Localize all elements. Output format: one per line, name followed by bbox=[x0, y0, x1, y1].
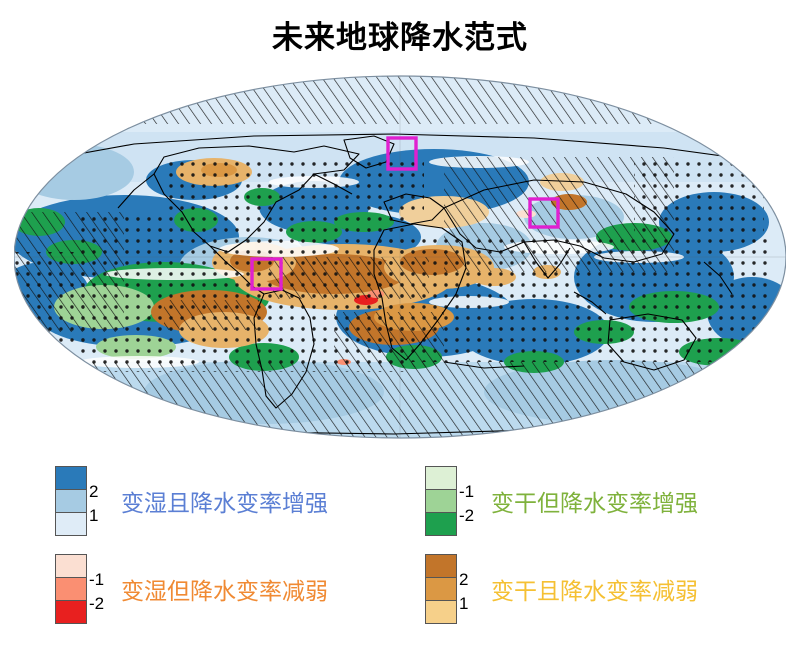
legend-swatch-brown-3 bbox=[426, 555, 456, 578]
legend-group-wetter-more-variable[interactable]: 2 1 变湿且降水变率增强 bbox=[55, 466, 328, 536]
legend-tick-blue-lower: 1 bbox=[89, 507, 98, 524]
legend-swatch-green-1 bbox=[426, 467, 456, 490]
legend-swatch-red-2 bbox=[56, 578, 86, 601]
legend-group-wetter-less-variable[interactable]: -1 -2 变湿但降水变率减弱 bbox=[55, 554, 328, 624]
page-title: 未来地球降水范式 bbox=[0, 12, 800, 57]
legend-tick-green-upper: -1 bbox=[459, 483, 474, 500]
legend-swatch-blue-2 bbox=[56, 490, 86, 513]
legend-swatch-stack-brown bbox=[425, 554, 457, 624]
legend-ticks-blue: 2 1 bbox=[89, 467, 111, 535]
legend-swatch-stack-red bbox=[55, 554, 87, 624]
legend-label-wetter-less-variable: 变湿但降水变率减弱 bbox=[121, 572, 328, 606]
legend-swatch-green-2 bbox=[426, 490, 456, 513]
world-map-panel[interactable] bbox=[14, 62, 786, 452]
legend-group-drier-more-variable[interactable]: -1 -2 变干但降水变率增强 bbox=[425, 466, 698, 536]
legend: 2 1 变湿且降水变率增强 -1 -2 变干但降水变率增强 -1 -2 变湿但降… bbox=[0, 458, 800, 643]
legend-swatch-red-1 bbox=[56, 555, 86, 578]
legend-ticks-green: -1 -2 bbox=[459, 467, 481, 535]
legend-label-drier-less-variable: 变干且降水变率减弱 bbox=[491, 572, 698, 606]
legend-ticks-brown: 2 1 bbox=[459, 555, 481, 623]
legend-tick-red-lower: -2 bbox=[89, 595, 104, 612]
legend-tick-blue-upper: 2 bbox=[89, 483, 98, 500]
legend-swatch-stack-green bbox=[425, 466, 457, 536]
legend-tick-brown-lower: 1 bbox=[459, 595, 468, 612]
legend-swatch-stack-blue bbox=[55, 466, 87, 536]
legend-tick-brown-upper: 2 bbox=[459, 571, 468, 588]
legend-tick-red-upper: -1 bbox=[89, 571, 104, 588]
legend-ticks-red: -1 -2 bbox=[89, 555, 111, 623]
legend-label-wetter-more-variable: 变湿且降水变率增强 bbox=[121, 484, 328, 518]
legend-swatch-blue-1 bbox=[56, 513, 86, 535]
legend-group-drier-less-variable[interactable]: 2 1 变干且降水变率减弱 bbox=[425, 554, 698, 624]
legend-swatch-brown-2 bbox=[426, 578, 456, 601]
legend-swatch-brown-1 bbox=[426, 601, 456, 623]
legend-label-drier-more-variable: 变干但降水变率增强 bbox=[491, 484, 698, 518]
legend-swatch-blue-3 bbox=[56, 467, 86, 490]
legend-swatch-red-3 bbox=[56, 601, 86, 623]
legend-swatch-green-3 bbox=[426, 513, 456, 535]
map-content bbox=[14, 62, 786, 452]
legend-tick-green-lower: -2 bbox=[459, 507, 474, 524]
world-map-svg[interactable] bbox=[14, 62, 786, 452]
